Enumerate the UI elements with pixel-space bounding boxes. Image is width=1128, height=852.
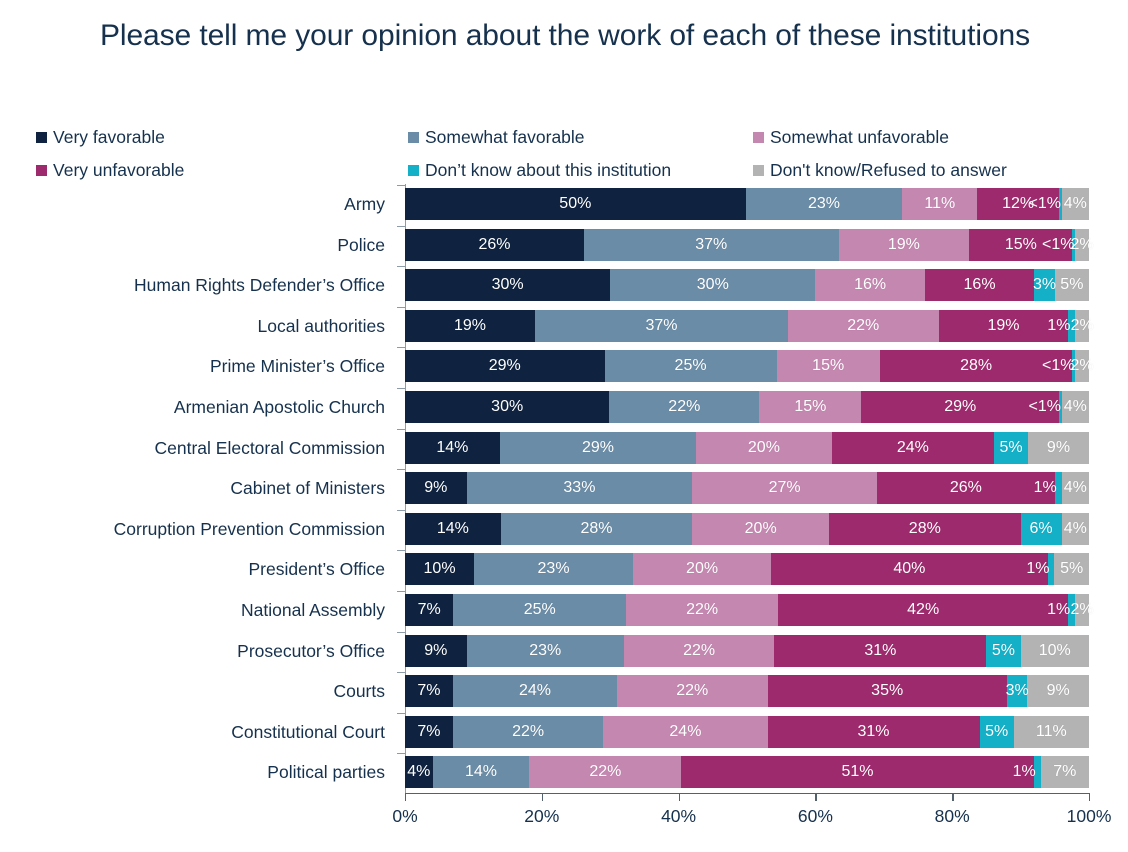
bar-segment[interactable]: 1%	[1055, 472, 1062, 504]
bar-segment-label: 2%	[1071, 358, 1094, 374]
bar-segment-label: 1%	[1026, 561, 1049, 577]
category-tick	[397, 753, 405, 754]
bar-segment-label: 1%	[1047, 602, 1070, 618]
chart-row: Central Electoral Commission14%29%20%24%…	[0, 428, 1128, 469]
category-label: Armenian Apostolic Church	[174, 387, 385, 428]
bar-segment-label: 26%	[478, 237, 510, 253]
category-label: Human Rights Defender’s Office	[134, 265, 385, 306]
legend-swatch-icon	[408, 165, 419, 176]
bar-segment-label: 2%	[1071, 318, 1094, 334]
bar-segment[interactable]: 25%	[453, 594, 626, 626]
bar-segment-label: 31%	[858, 724, 890, 740]
bar-segment-label: 22%	[512, 724, 544, 740]
category-tick	[397, 632, 405, 633]
bar-segment-label: 5%	[992, 643, 1015, 659]
bar-segment[interactable]: 23%	[474, 553, 633, 585]
bar-segment[interactable]: 23%	[467, 635, 624, 667]
bar-segment-label: 29%	[582, 440, 614, 456]
bar-segment-label: 28%	[909, 521, 941, 537]
bar-segment[interactable]: 22%	[529, 756, 681, 788]
bar-segment[interactable]: 30%	[610, 269, 815, 301]
bar-segment[interactable]: 5%	[1055, 269, 1089, 301]
bar-segment-label: 1%	[1034, 480, 1057, 496]
legend-item-label: Very unfavorable	[53, 162, 184, 180]
category-tick	[397, 469, 405, 470]
bar-segment-label: 16%	[964, 277, 996, 293]
category-label: Constitutional Court	[231, 712, 385, 753]
bar-segment-label: 22%	[589, 764, 621, 780]
plot-area: Army50%23%11%12%<1%4%Police26%37%19%15%<…	[0, 184, 1128, 804]
legend-swatch-icon	[408, 132, 419, 143]
bar-segment-label: 51%	[842, 764, 874, 780]
chart-row: Army50%23%11%12%<1%4%	[0, 184, 1128, 225]
stacked-bar[interactable]: 26%37%19%15%<1%2%	[405, 229, 1089, 261]
chart-row: Courts7%24%22%35%3%9%	[0, 671, 1128, 712]
bar-segment[interactable]: 7%	[405, 716, 453, 748]
category-tick	[397, 266, 405, 267]
bar-segment[interactable]: 26%	[405, 229, 584, 261]
chart-page: Please tell me your opinion about the wo…	[0, 0, 1128, 852]
bar-segment-label: 4%	[1064, 480, 1087, 496]
category-tick	[397, 226, 405, 227]
x-axis-tick	[1089, 793, 1090, 801]
bar-segment[interactable]: 7%	[405, 675, 453, 707]
bar-segment[interactable]: 4%	[405, 756, 433, 788]
bar-segment[interactable]: 3%	[1034, 269, 1055, 301]
x-axis-tick-label: 0%	[392, 806, 417, 827]
bar-segment[interactable]: 4%	[1062, 188, 1089, 220]
bar-segment-label: 30%	[697, 277, 729, 293]
category-label: Local authorities	[258, 306, 385, 347]
bar-segment[interactable]: 2%	[1075, 310, 1089, 342]
x-axis-tick	[542, 793, 543, 801]
bar-segment[interactable]: 15%	[759, 391, 861, 423]
bar-segment-label: 23%	[808, 196, 840, 212]
legend-item-label: Don’t know about this institution	[425, 162, 671, 180]
bar-segment[interactable]: 15%	[777, 350, 880, 382]
chart-row: President’s Office10%23%20%40%1%5%	[0, 549, 1128, 590]
stacked-bar[interactable]: 14%29%20%24%5%9%	[405, 432, 1089, 464]
bar-segment-label: 40%	[893, 561, 925, 577]
legend-item[interactable]: Don't know/Refused to answer	[753, 154, 1093, 187]
bar-segment[interactable]: 19%	[405, 310, 535, 342]
stacked-bar[interactable]: 4%14%22%51%1%7%	[405, 756, 1089, 788]
bar-segment[interactable]: 9%	[405, 635, 467, 667]
category-label: National Assembly	[241, 590, 385, 631]
bar-segment[interactable]: 25%	[605, 350, 777, 382]
bar-segment[interactable]: 16%	[925, 269, 1034, 301]
category-tick	[397, 591, 405, 592]
category-label: Courts	[333, 671, 385, 712]
bar-segment[interactable]: 4%	[1062, 472, 1089, 504]
bar-segment[interactable]: 14%	[405, 513, 501, 545]
bar-segment-label: 26%	[950, 480, 982, 496]
bar-segment-label: 22%	[686, 602, 718, 618]
bar-segment-label: 7%	[1053, 764, 1076, 780]
chart-row: National Assembly7%25%22%42%1%2%	[0, 590, 1128, 631]
bar-segment-label: 15%	[1005, 237, 1037, 253]
bar-segment[interactable]: 2%	[1075, 229, 1089, 261]
x-axis-tick-label: 40%	[661, 806, 696, 827]
stacked-bar[interactable]: 7%22%24%31%5%11%	[405, 716, 1089, 748]
bar-segment-label: 7%	[417, 683, 440, 699]
category-label: Police	[337, 225, 385, 266]
x-axis-tick	[952, 793, 953, 801]
bar-segment[interactable]: 20%	[633, 553, 771, 585]
bar-segment[interactable]: 22%	[788, 310, 938, 342]
bar-segment-label: 9%	[424, 480, 447, 496]
bar-segment[interactable]: 28%	[501, 513, 693, 545]
chart-row: Constitutional Court7%22%24%31%5%11%	[0, 712, 1128, 753]
bar-segment-label: 4%	[1064, 521, 1087, 537]
stacked-bar[interactable]: 10%23%20%40%1%5%	[405, 553, 1089, 585]
bar-segment[interactable]: 26%	[877, 472, 1055, 504]
bar-segment-label: 35%	[871, 683, 903, 699]
bar-segment-label: 37%	[645, 318, 677, 334]
bar-segment[interactable]: 40%	[771, 553, 1047, 585]
bar-segment-label: 14%	[465, 764, 497, 780]
category-tick	[397, 550, 405, 551]
bar-segment[interactable]: 14%	[405, 432, 500, 464]
bar-segment[interactable]: 42%	[778, 594, 1068, 626]
legend-item[interactable]: Don’t know about this institution	[408, 154, 753, 187]
legend-item-label: Somewhat unfavorable	[770, 129, 949, 147]
category-tick	[397, 510, 405, 511]
legend-swatch-icon	[753, 165, 764, 176]
bar-segment[interactable]: 9%	[1027, 675, 1089, 707]
bar-segment-label: 31%	[864, 643, 896, 659]
bar-segment[interactable]: 28%	[829, 513, 1021, 545]
bar-segment-label: 9%	[1047, 440, 1070, 456]
bar-segment[interactable]: 6%	[1021, 513, 1062, 545]
bar-segment[interactable]: 7%	[405, 594, 453, 626]
bar-segment[interactable]: 14%	[433, 756, 530, 788]
category-label: Corruption Prevention Commission	[114, 509, 385, 550]
chart-row: Police26%37%19%15%<1%2%	[0, 225, 1128, 266]
bar-segment[interactable]: 4%	[1062, 391, 1089, 423]
page-title: Please tell me your opinion about the wo…	[60, 16, 1070, 56]
bar-segment-label: 5%	[1060, 561, 1083, 577]
x-axis-tick	[405, 793, 406, 801]
bar-segment[interactable]: 5%	[986, 635, 1020, 667]
bar-segment[interactable]: 10%	[405, 553, 474, 585]
bar-segment-label: 24%	[897, 440, 929, 456]
bar-segment-label: 28%	[580, 521, 612, 537]
category-tick	[397, 388, 405, 389]
bar-segment[interactable]: 4%	[1062, 513, 1089, 545]
bar-segment[interactable]: 20%	[696, 432, 831, 464]
bar-segment-label: 10%	[1039, 643, 1071, 659]
bar-segment[interactable]: 9%	[405, 472, 467, 504]
bar-segment[interactable]: 1%	[1034, 756, 1041, 788]
bar-segment[interactable]: 22%	[453, 716, 603, 748]
bar-segment[interactable]: 27%	[692, 472, 877, 504]
stacked-bar[interactable]: 50%23%11%12%<1%4%	[405, 188, 1089, 220]
bar-segment[interactable]: 51%	[681, 756, 1033, 788]
bar-segment-label: 15%	[812, 358, 844, 374]
bar-segment-label: 22%	[676, 683, 708, 699]
chart-row: Prosecutor’s Office9%23%22%31%5%10%	[0, 631, 1128, 672]
bar-segment-label: <1%	[1029, 399, 1061, 415]
bar-segment-label: 16%	[854, 277, 886, 293]
bar-segment-label: 1%	[1013, 764, 1036, 780]
bar-segment-label: 29%	[489, 358, 521, 374]
bar-segment[interactable]: 23%	[746, 188, 903, 220]
bar-segment[interactable]: 24%	[453, 675, 617, 707]
bar-segment[interactable]: 50%	[405, 188, 746, 220]
category-label: President’s Office	[248, 549, 385, 590]
bar-segment-label: 19%	[454, 318, 486, 334]
category-label: Prime Minister’s Office	[210, 346, 385, 387]
legend-item-label: Don't know/Refused to answer	[770, 162, 1007, 180]
legend-item[interactable]: Very favorable	[36, 121, 408, 154]
bar-segment-label: 33%	[563, 480, 595, 496]
bar-segment-label: 22%	[847, 318, 879, 334]
bar-segment[interactable]: 31%	[768, 716, 980, 748]
bar-segment[interactable]: 5%	[980, 716, 1014, 748]
bar-segment-label: 10%	[424, 561, 456, 577]
stacked-bar[interactable]: 30%22%15%29%<1%4%	[405, 391, 1089, 423]
category-tick	[397, 347, 405, 348]
legend-item-label: Somewhat favorable	[425, 129, 585, 147]
stacked-bar[interactable]: 7%25%22%42%1%2%	[405, 594, 1089, 626]
stacked-bar[interactable]: 9%23%22%31%5%10%	[405, 635, 1089, 667]
bar-segment-label: <1%	[1029, 196, 1061, 212]
bar-segment-label: 28%	[960, 358, 992, 374]
bar-segment-label: 4%	[1064, 399, 1087, 415]
x-axis-tick	[815, 793, 816, 801]
chart-row: Cabinet of Ministers9%33%27%26%1%4%	[0, 468, 1128, 509]
bar-segment-label: 4%	[1064, 196, 1087, 212]
bar-segment-label: 19%	[987, 318, 1019, 334]
bar-segment[interactable]: 5%	[1054, 553, 1089, 585]
legend-swatch-icon	[36, 132, 47, 143]
bar-segment-label: 22%	[668, 399, 700, 415]
legend-item-label: Very favorable	[53, 129, 165, 147]
legend-item[interactable]: Somewhat favorable	[408, 121, 753, 154]
bar-segment[interactable]: 35%	[768, 675, 1007, 707]
bar-segment-label: 42%	[907, 602, 939, 618]
category-label: Prosecutor’s Office	[237, 631, 385, 672]
stacked-bar[interactable]: 14%28%20%28%6%4%	[405, 513, 1089, 545]
bar-segment-label: 7%	[418, 602, 441, 618]
category-label: Political parties	[267, 752, 385, 793]
bar-segment-label: 4%	[407, 764, 430, 780]
bar-segment[interactable]: 31%	[774, 635, 986, 667]
bar-segment[interactable]: 2%	[1075, 594, 1089, 626]
chart-row: Armenian Apostolic Church30%22%15%29%<1%…	[0, 387, 1128, 428]
category-tick	[397, 672, 405, 673]
bar-segment-label: 14%	[436, 440, 468, 456]
bar-segment-label: 29%	[944, 399, 976, 415]
stacked-bar[interactable]: 30%30%16%16%3%5%	[405, 269, 1089, 301]
bar-segment-label: 30%	[492, 277, 524, 293]
category-tick	[397, 185, 405, 186]
legend-item[interactable]: Very unfavorable	[36, 154, 408, 187]
stacked-bar[interactable]: 9%33%27%26%1%4%	[405, 472, 1089, 504]
bar-segment[interactable]: 22%	[609, 391, 759, 423]
bar-segment[interactable]: 37%	[584, 229, 839, 261]
bar-segment-label: 14%	[437, 521, 469, 537]
category-label: Army	[344, 184, 385, 225]
bar-segment[interactable]: 2%	[1075, 350, 1089, 382]
legend-swatch-icon	[36, 165, 47, 176]
bar-segment[interactable]: 29%	[405, 350, 605, 382]
bar-segment[interactable]: 30%	[405, 269, 610, 301]
x-axis-tick-label: 20%	[524, 806, 559, 827]
bar-segment[interactable]: 29%	[500, 432, 696, 464]
bar-segment-label: 25%	[675, 358, 707, 374]
chart-row: Prime Minister’s Office29%25%15%28%<1%2%	[0, 346, 1128, 387]
bar-segment[interactable]: 3%	[1007, 675, 1028, 707]
x-axis-tick-label: 60%	[798, 806, 833, 827]
stacked-bar[interactable]: 7%24%22%35%3%9%	[405, 675, 1089, 707]
bar-segment-label: 22%	[683, 643, 715, 659]
bar-segment-label: 2%	[1071, 602, 1094, 618]
bar-segment-label: 24%	[669, 724, 701, 740]
bar-segment-label: 19%	[888, 237, 920, 253]
bar-segment[interactable]: 5%	[994, 432, 1028, 464]
bar-segment[interactable]: 30%	[405, 391, 609, 423]
bar-segment-label: 37%	[695, 237, 727, 253]
bar-segment-label: 11%	[924, 196, 955, 212]
bar-segment-label: 5%	[1000, 440, 1023, 456]
bar-segment-label: 9%	[1047, 683, 1070, 699]
bar-segment-label: 20%	[748, 440, 780, 456]
bar-segment[interactable]: 20%	[692, 513, 829, 545]
bar-segment-label: 23%	[538, 561, 570, 577]
category-tick	[397, 429, 405, 430]
x-axis-line	[405, 793, 1089, 794]
bar-segment[interactable]: 22%	[624, 635, 774, 667]
x-axis-tick	[679, 793, 680, 801]
chart-row: Local authorities19%37%22%19%1%2%	[0, 306, 1128, 347]
category-label: Central Electoral Commission	[155, 428, 386, 469]
bar-segment-label: 5%	[1060, 277, 1083, 293]
chart-row: Human Rights Defender’s Office30%30%16%1…	[0, 265, 1128, 306]
bar-segment[interactable]: 19%	[839, 229, 970, 261]
bar-segment[interactable]: 24%	[603, 716, 767, 748]
bar-segment-label: 5%	[985, 724, 1008, 740]
bar-segment[interactable]: 33%	[467, 472, 693, 504]
bar-segment-label: 1%	[1047, 318, 1070, 334]
bar-segment[interactable]: 11%	[902, 188, 977, 220]
bar-segment-label: 7%	[417, 724, 440, 740]
bar-segment-label: 20%	[686, 561, 718, 577]
bar-segment[interactable]: 9%	[1028, 432, 1089, 464]
bar-segment[interactable]: 1%	[1048, 553, 1055, 585]
bar-segment[interactable]: 22%	[626, 594, 778, 626]
legend-item[interactable]: Somewhat unfavorable	[753, 121, 1093, 154]
bar-segment-label: 2%	[1071, 237, 1094, 253]
chart-row: Corruption Prevention Commission14%28%20…	[0, 509, 1128, 550]
legend-swatch-icon	[753, 132, 764, 143]
bar-segment-label: 25%	[524, 602, 556, 618]
bar-segment[interactable]: 7%	[1041, 756, 1089, 788]
bar-segment-label: 20%	[745, 521, 777, 537]
chart-legend: Very favorableSomewhat favorableSomewhat…	[36, 121, 1096, 187]
bar-segment-label: 6%	[1030, 521, 1053, 537]
bar-segment[interactable]: 11%	[1014, 716, 1089, 748]
bar-segment[interactable]: 22%	[617, 675, 767, 707]
x-axis-tick-label: 100%	[1067, 806, 1112, 827]
bar-segment-label: 24%	[519, 683, 551, 699]
bar-segment-label: 27%	[769, 480, 801, 496]
bar-segment-label: 30%	[491, 399, 523, 415]
chart-row: Political parties4%14%22%51%1%7%	[0, 752, 1128, 793]
x-axis-tick-label: 80%	[935, 806, 970, 827]
x-axis: 0%20%40%60%80%100%	[0, 793, 1128, 852]
category-label: Cabinet of Ministers	[230, 468, 385, 509]
bar-segment-label: 50%	[559, 196, 591, 212]
bar-segment-label: 11%	[1036, 724, 1067, 740]
bar-segment-label: 3%	[1006, 683, 1029, 699]
bar-segment-label: 3%	[1033, 277, 1056, 293]
bar-segment-label: 15%	[794, 399, 826, 415]
stacked-bar[interactable]: 19%37%22%19%1%2%	[405, 310, 1089, 342]
stacked-bar[interactable]: 29%25%15%28%<1%2%	[405, 350, 1089, 382]
bar-segment[interactable]: 37%	[535, 310, 788, 342]
bar-segment-label: 23%	[529, 643, 561, 659]
category-tick	[397, 307, 405, 308]
bar-segment[interactable]: 24%	[832, 432, 995, 464]
category-tick	[397, 713, 405, 714]
bar-segment-label: 9%	[424, 643, 447, 659]
bar-segment[interactable]: 16%	[815, 269, 924, 301]
bar-segment[interactable]: 10%	[1021, 635, 1089, 667]
